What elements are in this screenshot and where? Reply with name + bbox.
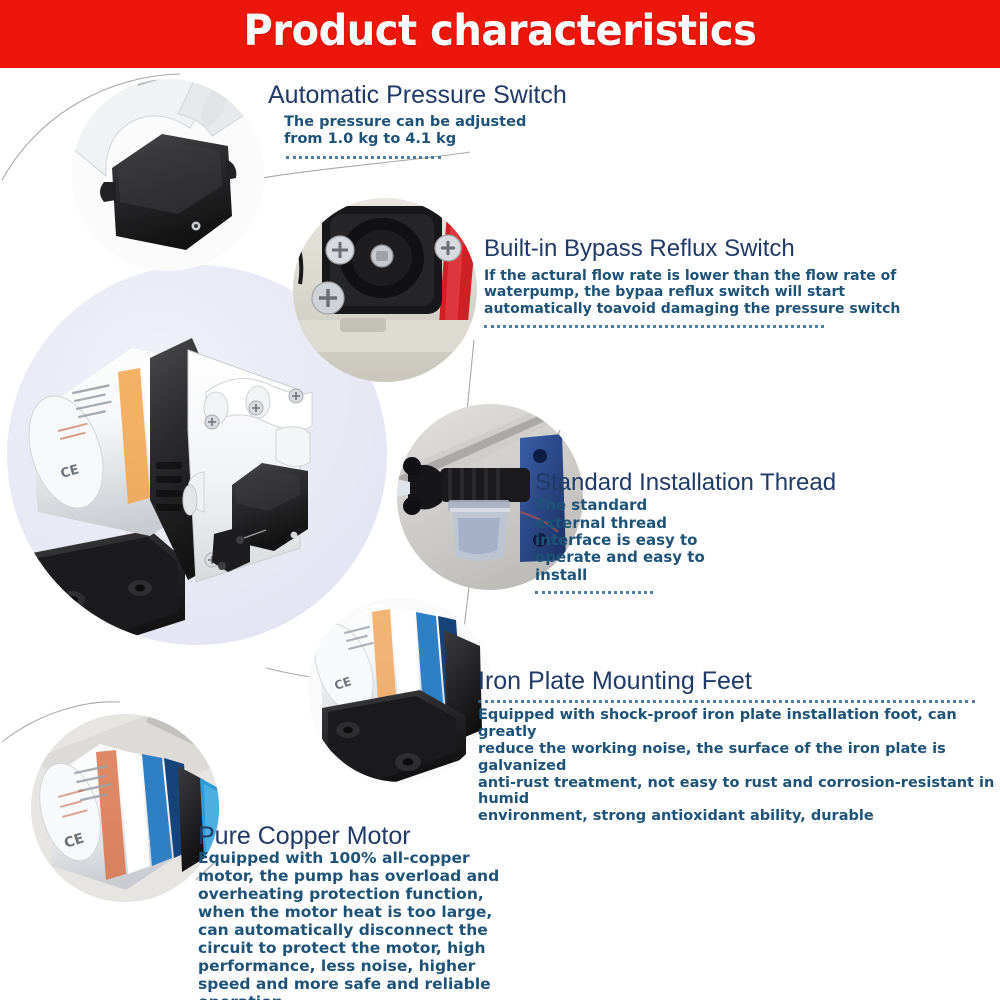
callout-body-line: motor, the pump has overload and [198, 868, 499, 886]
callout-iron-plate-mounting-feet: Iron Plate Mounting Feet Equipped with s… [478, 668, 1000, 825]
callout-built-in-bypass-reflux-switch: Built-in Bypass Reflux Switch If the act… [484, 236, 900, 328]
callout-dot-rule [478, 696, 975, 703]
callout-body-line: reduce the working noise, the surface of… [478, 741, 1000, 775]
callout-body-line: performance, less noise, higher [198, 958, 499, 976]
callout-standard-installation-thread: Standard Installation Thread The standar… [535, 470, 836, 594]
callout-body-line: install [535, 567, 836, 584]
callout-body-line: operate and easy to [535, 549, 836, 566]
callout-body: The standard external thread interface i… [535, 497, 836, 584]
callout-body-line: The standard [535, 497, 836, 514]
callout-body-line: automatically toavoid damaging the press… [484, 301, 900, 317]
callout-body-line: from 1.0 kg to 4.1 kg [284, 131, 567, 148]
callout-body-line: The pressure can be adjusted [284, 114, 567, 131]
callout-body-line: Equipped with 100% all-copper [198, 850, 499, 868]
callout-body-line: speed and more safe and reliable [198, 976, 499, 994]
callout-body: If the actural flow rate is lower than t… [484, 268, 900, 317]
callout-body-line: waterpump, the bypaa reflux switch will … [484, 284, 900, 300]
callout-body: Equipped with shock-proof iron plate ins… [478, 707, 1000, 825]
callout-body-line: can automatically disconnect the [198, 922, 499, 940]
callout-heading: Standard Installation Thread [535, 470, 836, 495]
callout-body-line: operation [198, 994, 499, 1000]
callout-pure-copper-motor: Pure Copper Motor Equipped with 100% all… [198, 823, 499, 1000]
callout-body-line: If the actural flow rate is lower than t… [484, 268, 900, 284]
callout-body: Equipped with 100% all-copper motor, the… [198, 850, 499, 1000]
callout-body-line: circuit to protect the motor, high [198, 940, 499, 958]
callout-body-line: external thread [535, 515, 836, 532]
photo-pressure-switch-closeup [60, 66, 280, 280]
photo-mounting-feet-closeup: CE [304, 598, 498, 788]
callout-heading: Iron Plate Mounting Feet [478, 668, 1000, 694]
callout-heading: Automatic Pressure Switch [268, 82, 567, 108]
callout-automatic-pressure-switch: Automatic Pressure Switch The pressure c… [268, 82, 567, 159]
callout-dot-rule [484, 321, 824, 328]
callout-dot-rule [535, 587, 653, 594]
callout-body-line: environment, strong antioxidant ability,… [478, 808, 1000, 825]
callout-body-line: Equipped with shock-proof iron plate ins… [478, 707, 1000, 741]
callout-body-line: when the motor heat is too large, [198, 904, 499, 922]
callout-body-line: anti-rust treatment, not easy to rust an… [478, 775, 1000, 809]
product-characteristics-infographic: Product characteristics [0, 0, 1000, 1000]
callout-dot-rule [286, 152, 441, 159]
callout-heading: Pure Copper Motor [198, 823, 499, 849]
callout-body: The pressure can be adjusted from 1.0 kg… [284, 114, 567, 148]
callout-heading: Built-in Bypass Reflux Switch [484, 236, 900, 261]
callout-body-line: overheating protection function, [198, 886, 499, 904]
callout-body-line: interface is easy to [535, 532, 836, 549]
